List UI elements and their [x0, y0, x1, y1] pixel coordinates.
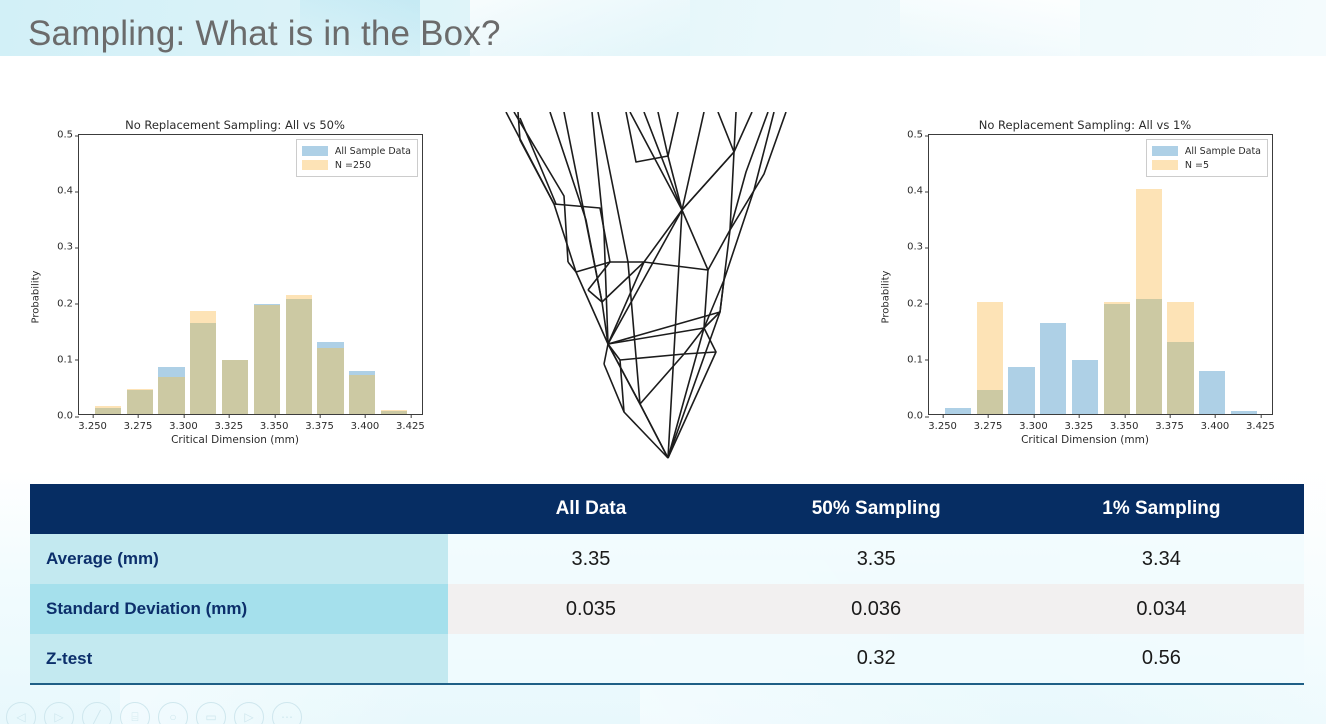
table-row: Standard Deviation (mm) 0.035 0.036 0.03… [30, 584, 1304, 634]
next-slide-icon[interactable]: ▷ [44, 702, 74, 724]
x-tick-label: 3.325 [214, 414, 243, 432]
y-tick-label: 0.1 [907, 354, 929, 365]
bar-sampled [1104, 302, 1130, 305]
x-tick-label: 3.250 [928, 414, 957, 432]
chart-xlabel-left: Critical Dimension (mm) [30, 434, 440, 446]
x-tick-label: 3.425 [1246, 414, 1275, 432]
more-options-icon[interactable]: ⋯ [272, 702, 302, 724]
legend-swatch-icon-blue [302, 146, 328, 156]
bar-overlap [1136, 299, 1162, 414]
bar-overlap [1167, 342, 1193, 414]
y-tick-label: 0.1 [57, 354, 79, 365]
table-row: Z-test 0.32 0.56 [30, 634, 1304, 684]
cell-ztest-50: 0.32 [734, 634, 1019, 684]
cell-average-all: 3.35 [448, 534, 733, 584]
bar-overlap [127, 390, 153, 414]
chart-title-left: No Replacement Sampling: All vs 50% [30, 118, 440, 132]
bar-overlap [158, 377, 184, 414]
legend-item-all-sample-data-right: All Sample Data [1152, 144, 1261, 158]
camera-off-icon[interactable]: ▷ [234, 702, 264, 724]
cell-stddev-50: 0.036 [734, 584, 1019, 634]
table-header: All Data 50% Sampling 1% Sampling [30, 484, 1304, 534]
bar-sampled [1136, 189, 1162, 299]
x-tick-label: 3.350 [1110, 414, 1139, 432]
table-header-1-sampling: 1% Sampling [1019, 484, 1304, 534]
bar-sampled [95, 406, 121, 408]
pen-icon[interactable]: ╱ [82, 702, 112, 724]
bar-sampled [381, 410, 407, 412]
x-tick-label: 3.375 [1155, 414, 1184, 432]
plot-area-left: 0.00.10.20.30.40.5 3.2503.2753.3003.3253… [78, 134, 423, 415]
bar-sampled [1167, 302, 1193, 342]
x-tick-label: 3.250 [78, 414, 107, 432]
x-tick-label: 3.425 [396, 414, 425, 432]
y-tick-label: 0.0 [57, 411, 79, 422]
present-screen-icon[interactable]: ▭ [196, 702, 226, 724]
bar-overlap [222, 360, 248, 415]
bar-overlap [977, 390, 1003, 414]
legend-swatch-icon-orange [302, 160, 328, 170]
table-header-50-sampling: 50% Sampling [734, 484, 1019, 534]
row-label-average: Average (mm) [30, 534, 448, 584]
cell-stddev-all: 0.035 [448, 584, 733, 634]
legend-label-right-0: All Sample Data [1185, 146, 1261, 157]
chart-panel-right: No Replacement Sampling: All vs 1% Proba… [880, 112, 1290, 462]
bar-sampled [190, 311, 216, 323]
bar-overlap [349, 375, 375, 414]
legend-left: All Sample Data N =250 [296, 139, 418, 177]
x-tick-label: 3.275 [124, 414, 153, 432]
row-label-ztest: Z-test [30, 634, 448, 684]
polygonal-funnel-icon [468, 112, 880, 462]
legend-label-left-1: N =250 [335, 160, 371, 171]
previous-slide-icon[interactable]: ◁ [6, 702, 36, 724]
y-tick-label: 0.4 [907, 186, 929, 197]
legend-label-right-1: N =5 [1185, 160, 1209, 171]
legend-swatch-icon-orange [1152, 160, 1178, 170]
chart-ylabel-right: Probability [881, 271, 892, 324]
bar-all-sample [1008, 367, 1034, 414]
x-tick-label: 3.275 [974, 414, 1003, 432]
bar-all-sample [1040, 323, 1066, 414]
presentation-toolbar: ◁▷╱⌸○▭▷⋯ [0, 696, 1326, 724]
bar-overlap [254, 305, 280, 414]
page-title: Sampling: What is in the Box? [28, 14, 501, 54]
slide-grid-icon[interactable]: ⌸ [120, 702, 150, 724]
chart-title-right: No Replacement Sampling: All vs 1% [880, 118, 1290, 132]
y-tick-label: 0.3 [57, 242, 79, 253]
chart-panel-left: No Replacement Sampling: All vs 50% Prob… [30, 112, 440, 462]
bar-sampled [977, 302, 1003, 391]
summary-statistics-table: All Data 50% Sampling 1% Sampling Averag… [30, 484, 1304, 685]
legend-right: All Sample Data N =5 [1146, 139, 1268, 177]
bar-all-sample [254, 304, 280, 305]
bar-all-sample [1072, 360, 1098, 415]
table-body: Average (mm) 3.35 3.35 3.34 Standard Dev… [30, 534, 1304, 684]
x-tick-label: 3.325 [1064, 414, 1093, 432]
y-tick-label: 0.4 [57, 186, 79, 197]
y-tick-label: 0.2 [907, 298, 929, 309]
x-tick-label: 3.300 [1019, 414, 1048, 432]
bar-all-sample [1199, 371, 1225, 414]
plot-area-right: 0.00.10.20.30.40.5 3.2503.2753.3003.3253… [928, 134, 1273, 415]
x-tick-label: 3.350 [260, 414, 289, 432]
table-row: Average (mm) 3.35 3.35 3.34 [30, 534, 1304, 584]
cell-average-50: 3.35 [734, 534, 1019, 584]
x-tick-label: 3.375 [305, 414, 334, 432]
legend-item-sample-n-right: N =5 [1152, 158, 1261, 172]
bar-overlap [286, 299, 312, 414]
y-tick-label: 0.5 [57, 130, 79, 141]
zoom-icon[interactable]: ○ [158, 702, 188, 724]
cell-average-1: 3.34 [1019, 534, 1304, 584]
x-tick-label: 3.400 [351, 414, 380, 432]
bar-all-sample [349, 371, 375, 375]
y-tick-label: 0.5 [907, 130, 929, 141]
bar-overlap [1104, 304, 1130, 414]
wireframe-panel [468, 112, 880, 462]
legend-item-all-sample-data: All Sample Data [302, 144, 411, 158]
y-tick-label: 0.3 [907, 242, 929, 253]
y-tick-label: 0.0 [907, 411, 929, 422]
legend-swatch-icon-blue [1152, 146, 1178, 156]
chart-ylabel-left: Probability [31, 271, 42, 324]
table-header-row: All Data 50% Sampling 1% Sampling [30, 484, 1304, 534]
x-tick-label: 3.300 [169, 414, 198, 432]
bar-overlap [190, 323, 216, 414]
bar-all-sample [158, 367, 184, 377]
cell-ztest-all [448, 634, 733, 684]
cell-ztest-1: 0.56 [1019, 634, 1304, 684]
cell-stddev-1: 0.034 [1019, 584, 1304, 634]
legend-label-left-0: All Sample Data [335, 146, 411, 157]
bar-sampled [286, 295, 312, 299]
legend-item-sample-n: N =250 [302, 158, 411, 172]
bar-all-sample [317, 342, 343, 348]
bar-sampled [127, 389, 153, 390]
row-label-stddev: Standard Deviation (mm) [30, 584, 448, 634]
bar-overlap [317, 348, 343, 414]
y-tick-label: 0.2 [57, 298, 79, 309]
chart-xlabel-right: Critical Dimension (mm) [880, 434, 1290, 446]
table-header-all-data: All Data [448, 484, 733, 534]
table-header-blank [30, 484, 448, 534]
x-tick-label: 3.400 [1201, 414, 1230, 432]
